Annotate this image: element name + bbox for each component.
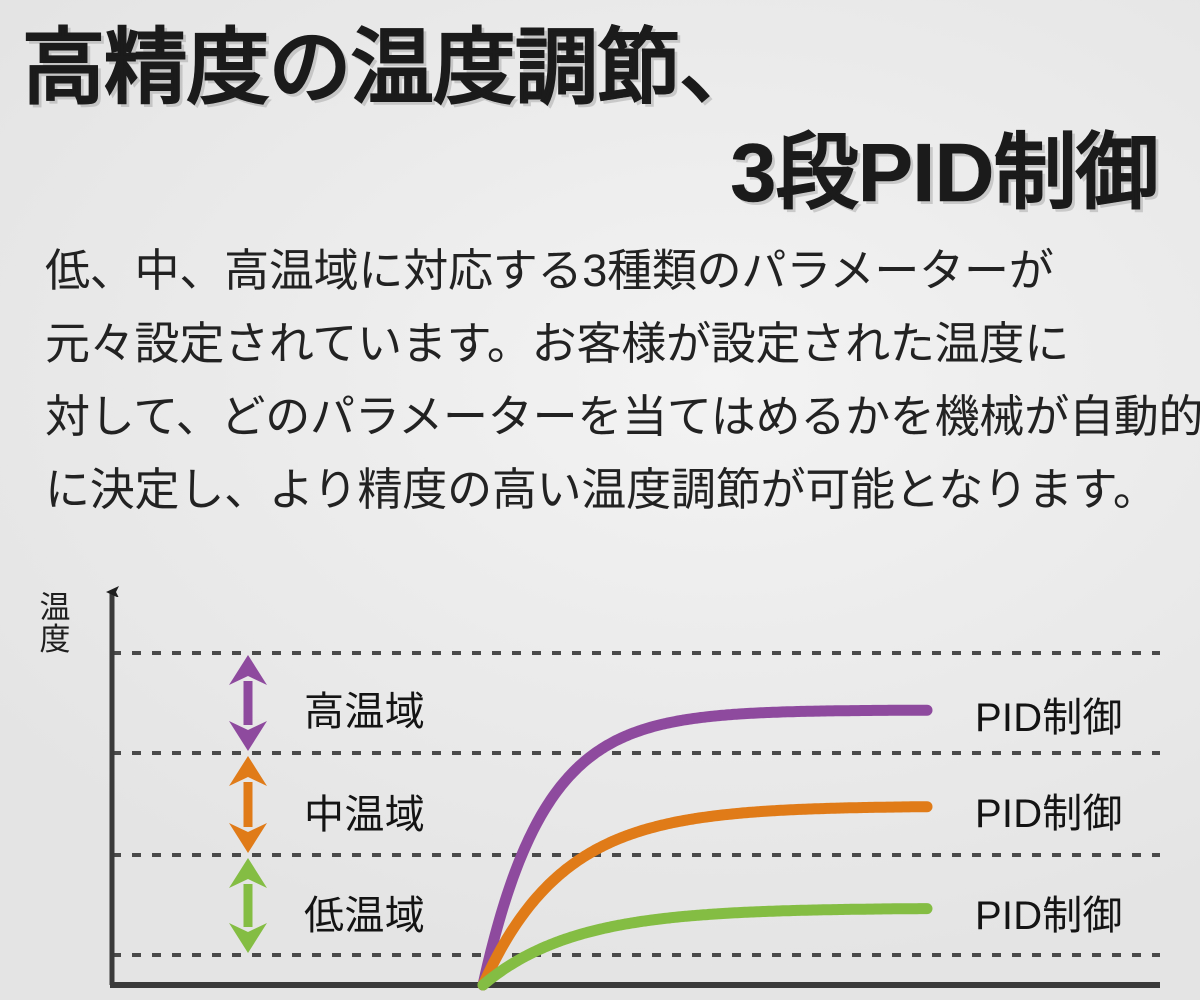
body-paragraph: 低、中、高温域に対応する3種類のパラメーターが 元々設定されています。お客様が設…	[45, 248, 1170, 540]
body-line-1: 低、中、高温域に対応する3種類のパラメーターが	[45, 248, 1170, 293]
curve-medium	[483, 807, 927, 985]
y-axis-label-char-2: 度	[38, 624, 72, 656]
headline-line-1: 高精度の温度調節、	[22, 26, 762, 109]
pid-label-low: PID制御	[975, 883, 1123, 941]
curve-low	[483, 909, 927, 985]
y-axis-label: 温 度	[38, 592, 72, 655]
zone-arrow-medium	[229, 756, 267, 853]
y-axis-label-char-1: 温	[38, 592, 72, 624]
zone-label-medium: 中温域	[304, 782, 425, 840]
zone-arrow-high	[229, 655, 267, 751]
zone-label-high: 高温域	[304, 679, 425, 737]
pid-temperature-chart: 温 度 高温域 中温域 低温域 PID制御 PID制御 PID制御	[0, 570, 1200, 1000]
pid-label-medium: PID制御	[975, 781, 1123, 839]
body-line-3: 対して、どのパラメーターを当てはめるかを機械が自動的	[45, 394, 1170, 439]
chart-zone-arrows	[229, 655, 267, 953]
headline-line-2: 3段PID制御	[730, 131, 1158, 214]
zone-arrow-low	[229, 858, 267, 953]
pid-label-high: PID制御	[975, 685, 1123, 743]
body-line-4: に決定し、より精度の高い温度調節が可能となります。	[45, 467, 1170, 512]
body-line-2: 元々設定されています。お客様が設定された温度に	[45, 321, 1170, 366]
zone-label-low: 低温域	[304, 883, 425, 941]
